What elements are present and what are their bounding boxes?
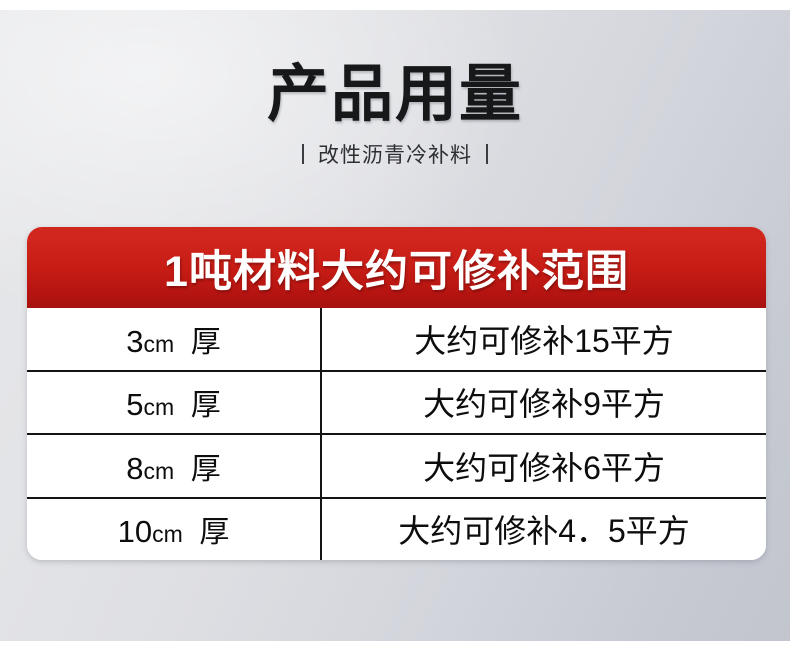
table-row: 8cm 厚 大约可修补6平方 [27, 435, 766, 499]
thickness-label: 10cm 厚 [118, 507, 230, 551]
table-cell-thickness: 10cm 厚 [27, 499, 322, 561]
thickness-word: 厚 [199, 516, 229, 549]
usage-table-card: 1吨材料大约可修补范围 3cm 厚 大约可修补15平方 5cm 厚 大约可修补9… [27, 227, 766, 560]
product-usage-infographic: 产品用量 改性沥青冷补料 1吨材料大约可修补范围 3cm 厚 大约可修补15平方 [0, 0, 790, 651]
coverage-label: 大约可修补9平方 [423, 379, 665, 425]
coverage-label: 大约可修补15平方 [414, 316, 674, 362]
thickness-word: 厚 [191, 326, 221, 359]
usage-table-banner: 1吨材料大约可修补范围 [27, 227, 766, 308]
thickness-value: 3 [126, 324, 143, 359]
thickness-unit: cm [143, 331, 174, 357]
table-cell-thickness: 3cm 厚 [27, 308, 322, 370]
thickness-label: 5cm 厚 [126, 380, 221, 424]
header-block: 产品用量 改性沥青冷补料 [0, 62, 790, 169]
thickness-unit: cm [143, 458, 174, 484]
table-row: 3cm 厚 大约可修补15平方 [27, 308, 766, 372]
usage-table-banner-label: 1吨材料大约可修补范围 [164, 237, 629, 299]
page-title: 产品用量 [0, 62, 790, 127]
coverage-label: 大约可修补4．5平方 [398, 506, 690, 552]
subtitle-divider-right-icon [486, 144, 488, 164]
usage-table-body: 3cm 厚 大约可修补15平方 5cm 厚 大约可修补9平方 8cm 厚 [27, 308, 766, 560]
thickness-value: 10 [118, 514, 152, 549]
thickness-unit: cm [143, 394, 174, 420]
table-cell-coverage: 大约可修补4．5平方 [322, 499, 766, 561]
thickness-unit: cm [152, 521, 183, 547]
table-cell-coverage: 大约可修补9平方 [322, 372, 766, 434]
coverage-label: 大约可修补6平方 [423, 443, 665, 489]
thickness-value: 8 [126, 451, 143, 486]
thickness-word: 厚 [191, 453, 221, 486]
table-cell-thickness: 5cm 厚 [27, 372, 322, 434]
subtitle-divider-left-icon [302, 144, 304, 164]
page-subtitle: 改性沥青冷补料 [318, 139, 472, 169]
thickness-label: 8cm 厚 [126, 444, 221, 488]
table-cell-coverage: 大约可修补6平方 [322, 435, 766, 497]
thickness-label: 3cm 厚 [126, 317, 221, 361]
thickness-word: 厚 [191, 389, 221, 422]
table-row: 10cm 厚 大约可修补4．5平方 [27, 499, 766, 561]
table-cell-coverage: 大约可修补15平方 [322, 308, 766, 370]
table-cell-thickness: 8cm 厚 [27, 435, 322, 497]
thickness-value: 5 [126, 387, 143, 422]
subtitle-row: 改性沥青冷补料 [0, 139, 790, 169]
table-row: 5cm 厚 大约可修补9平方 [27, 372, 766, 436]
